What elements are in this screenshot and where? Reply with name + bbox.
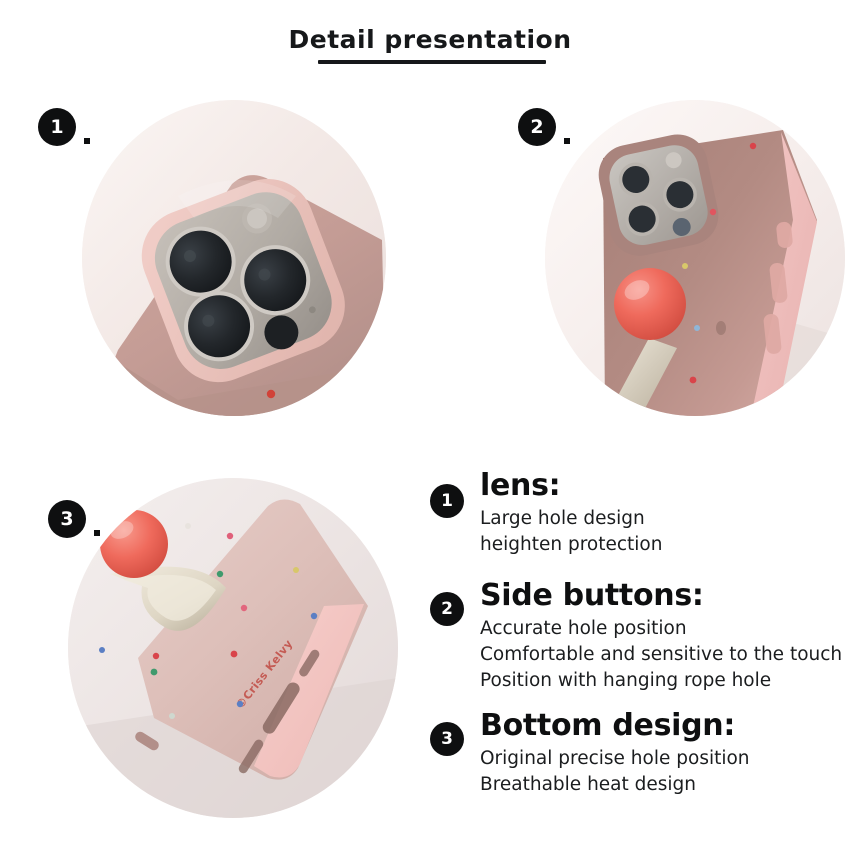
photo-badge-2: 2 bbox=[518, 108, 556, 146]
page-title-text: Detail presentation bbox=[289, 26, 572, 54]
photo-badge-1: 1 bbox=[38, 108, 76, 146]
photo-badge-dot-2 bbox=[564, 138, 570, 144]
lens-photo-graphic bbox=[82, 100, 386, 416]
feature-line: heighten protection bbox=[480, 532, 850, 558]
feature-badge-2: 2 bbox=[430, 592, 464, 626]
feature-line: Position with hanging rope hole bbox=[480, 668, 850, 694]
feature-list: 1 lens: Large hole design heighten prote… bbox=[430, 470, 850, 812]
photo-badge-3: 3 bbox=[48, 500, 86, 538]
title-underline bbox=[318, 60, 546, 64]
feature-title-lens: lens: bbox=[480, 470, 850, 502]
side-buttons-photo-graphic bbox=[545, 100, 845, 416]
feature-item-side-buttons: 2 Side buttons: Accurate hole position C… bbox=[430, 580, 850, 694]
feature-item-bottom-design: 3 Bottom design: Original precise hole p… bbox=[430, 710, 850, 798]
photo-badge-dot-3 bbox=[94, 530, 100, 536]
bottom-design-photo[interactable]: ©Criss Kelvy bbox=[68, 478, 398, 818]
bottom-design-photo-graphic: ©Criss Kelvy bbox=[68, 478, 398, 818]
feature-line: Original precise hole position bbox=[480, 746, 850, 772]
feature-line: Breathable heat design bbox=[480, 772, 850, 798]
photo-badge-dot-1 bbox=[84, 138, 90, 144]
feature-line: Accurate hole position bbox=[480, 616, 850, 642]
feature-line: Large hole design bbox=[480, 506, 850, 532]
feature-body-2: Side buttons: Accurate hole position Com… bbox=[430, 580, 850, 694]
lens-closeup-photo[interactable] bbox=[82, 100, 386, 416]
feature-body-3: Bottom design: Original precise hole pos… bbox=[430, 710, 850, 798]
page-title: Detail presentation bbox=[0, 26, 860, 54]
feature-body-1: lens: Large hole design heighten protect… bbox=[430, 470, 850, 558]
side-buttons-photo[interactable] bbox=[545, 100, 845, 416]
feature-line: Comfortable and sensitive to the touch bbox=[480, 642, 850, 668]
feature-title-side-buttons: Side buttons: bbox=[480, 580, 850, 612]
feature-badge-1: 1 bbox=[430, 484, 464, 518]
feature-item-lens: 1 lens: Large hole design heighten prote… bbox=[430, 470, 850, 558]
feature-title-bottom-design: Bottom design: bbox=[480, 710, 850, 742]
